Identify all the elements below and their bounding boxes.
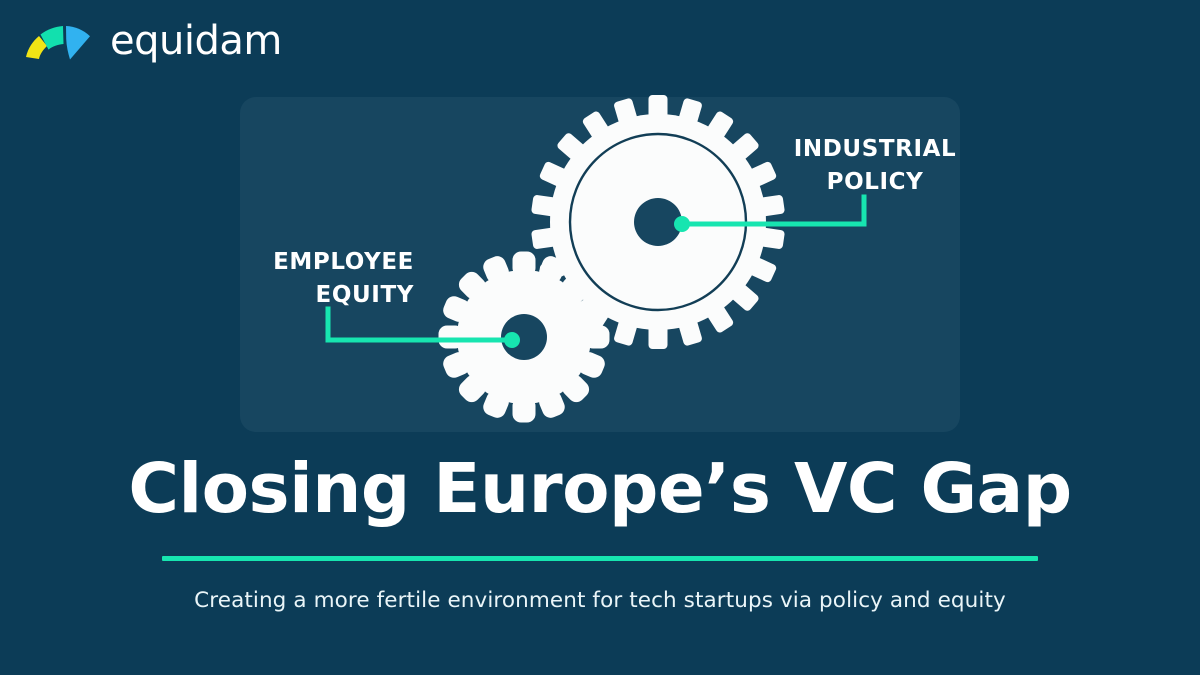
page-subtitle: Creating a more fertile environment for … (0, 588, 1200, 614)
callout-industrial-policy-line2: POLICY (772, 166, 978, 199)
slide-canvas: equidam (0, 0, 1200, 675)
connector-dot-employee-equity (504, 332, 520, 348)
page-title: Closing Europe’s VC Gap (0, 455, 1200, 524)
brand-wordmark: equidam (110, 21, 282, 61)
title-divider (162, 556, 1038, 561)
equidam-logo-icon (22, 17, 96, 65)
callout-employee-equity-line1: EMPLOYEE (238, 246, 414, 279)
callout-industrial-policy-line1: INDUSTRIAL (772, 133, 978, 166)
callout-employee-equity-line2: EQUITY (238, 279, 414, 312)
small-gear (440, 253, 608, 421)
brand-logo: equidam (22, 17, 282, 65)
connector-dot-industrial-policy (674, 216, 690, 232)
callout-employee-equity: EMPLOYEE EQUITY (238, 246, 414, 313)
callout-industrial-policy: INDUSTRIAL POLICY (772, 133, 978, 200)
